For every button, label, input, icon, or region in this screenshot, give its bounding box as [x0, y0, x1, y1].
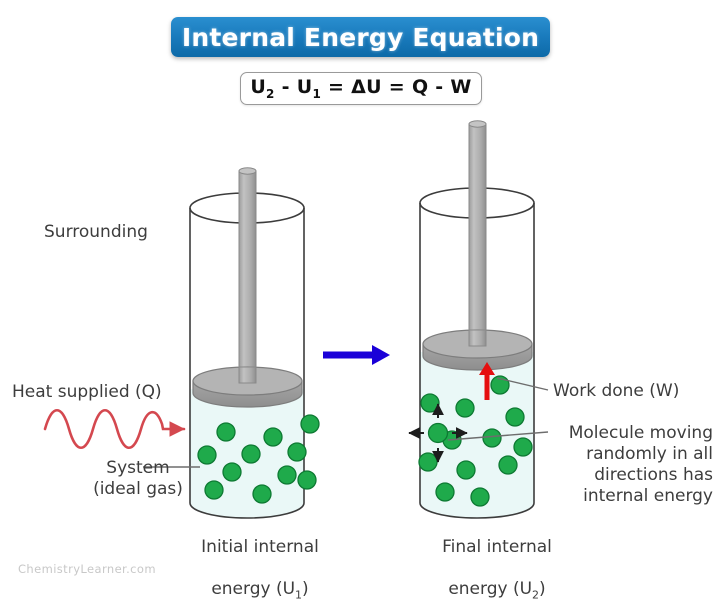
- watermark: ChemistryLearner.com: [18, 562, 156, 576]
- label-system: System (ideal gas): [73, 458, 203, 500]
- molecule: [499, 456, 517, 474]
- label-heat-supplied: Heat supplied (Q): [12, 382, 162, 403]
- molecule: [298, 471, 316, 489]
- molecule: [223, 463, 241, 481]
- molecule-highlighted: [429, 424, 448, 443]
- diagram-root: Internal Energy Equation U2 - U1 = ΔU = …: [0, 0, 720, 589]
- caption-final-internal-energy: Final internal energy (U2): [412, 516, 582, 605]
- molecule: [419, 453, 437, 471]
- piston-rod-final: [469, 124, 486, 352]
- molecule: [457, 461, 475, 479]
- molecule: [301, 415, 319, 433]
- molecule: [217, 423, 235, 441]
- transition-arrow: [323, 345, 390, 365]
- final-state-cylinder: [409, 121, 534, 518]
- molecule: [264, 428, 282, 446]
- molecule: [253, 485, 271, 503]
- caption-initial-internal-energy: Initial internal energy (U1): [170, 516, 350, 605]
- molecule: [514, 438, 532, 456]
- molecule: [471, 488, 489, 506]
- molecule: [483, 429, 501, 447]
- caption-line-2: energy (U: [211, 579, 295, 599]
- rod-through-piston-initial: [239, 367, 256, 383]
- rod-through-piston-final: [469, 330, 486, 346]
- molecule: [242, 445, 260, 463]
- molecule: [436, 483, 454, 501]
- piston-rod-initial: [239, 171, 256, 389]
- caption-line-1: Initial internal: [201, 537, 319, 557]
- rod-top-cap-initial: [239, 168, 256, 174]
- rod-top-cap-final: [469, 121, 486, 127]
- molecule: [288, 443, 306, 461]
- molecule: [205, 481, 223, 499]
- molecule: [278, 466, 296, 484]
- caption-line-1: Final internal: [442, 537, 552, 557]
- initial-state-cylinder: [190, 168, 319, 518]
- heat-wave-path: [45, 410, 184, 448]
- caption-line-2: energy (U: [448, 579, 532, 599]
- molecule: [456, 399, 474, 417]
- label-work-done: Work done (W): [553, 381, 679, 402]
- label-surrounding: Surrounding: [44, 222, 148, 243]
- label-molecule-note: Molecule moving randomly in all directio…: [553, 423, 713, 507]
- molecule: [506, 408, 524, 426]
- heat-supplied-wave: [45, 410, 184, 448]
- molecule: [421, 394, 439, 412]
